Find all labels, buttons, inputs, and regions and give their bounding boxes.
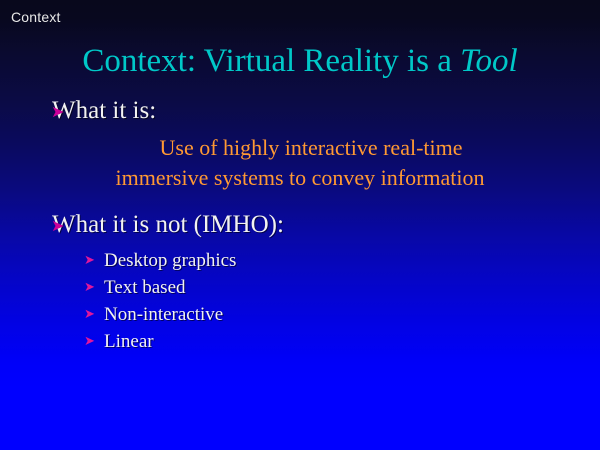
slide-title-emphasis: Tool	[460, 43, 518, 79]
sub-bullet-item-non-interactive: ➤ Non-interactive	[0, 303, 600, 330]
body-spacer	[0, 193, 600, 210]
arrow-bullet-icon: ➤	[84, 280, 95, 293]
sub-bullet-label: Linear	[104, 331, 154, 352]
bullet-label: What it is:	[52, 97, 156, 124]
highlight-paragraph: Use of highly interactive real-time imme…	[0, 133, 600, 193]
sub-bullet-label: Text based	[104, 277, 186, 298]
sub-bullet-list: ➤ Desktop graphics ➤ Text based ➤ Non-in…	[0, 249, 600, 357]
slide-header-label: Context	[11, 9, 61, 25]
bullet-item-what-it-is-not: ➤ What it is not (IMHO):	[0, 210, 600, 240]
slide-body: ➤ What it is: Use of highly interactive …	[0, 96, 600, 357]
sub-bullet-label: Non-interactive	[104, 304, 223, 325]
slide-title-plain: Context: Virtual Reality is a	[82, 43, 460, 79]
sub-bullet-item-linear: ➤ Linear	[0, 330, 600, 357]
arrow-bullet-icon: ➤	[51, 219, 64, 235]
highlight-paragraph-line-2: immersive systems to convey information	[0, 163, 600, 193]
arrow-bullet-icon: ➤	[84, 253, 95, 266]
highlight-paragraph-line-1: Use of highly interactive real-time	[0, 133, 600, 163]
slide-title: Context: Virtual Reality is a Tool	[0, 42, 600, 80]
sub-bullet-item-text-based: ➤ Text based	[0, 276, 600, 303]
arrow-bullet-icon: ➤	[84, 334, 95, 347]
sub-bullet-label: Desktop graphics	[104, 250, 236, 271]
sub-bullet-item-desktop-graphics: ➤ Desktop graphics	[0, 249, 600, 276]
presentation-slide: Context Context: Virtual Reality is a To…	[0, 0, 600, 450]
arrow-bullet-icon: ➤	[84, 307, 95, 320]
arrow-bullet-icon: ➤	[51, 105, 64, 121]
bullet-label: What it is not (IMHO):	[52, 211, 284, 238]
bullet-item-what-it-is: ➤ What it is:	[0, 96, 600, 126]
